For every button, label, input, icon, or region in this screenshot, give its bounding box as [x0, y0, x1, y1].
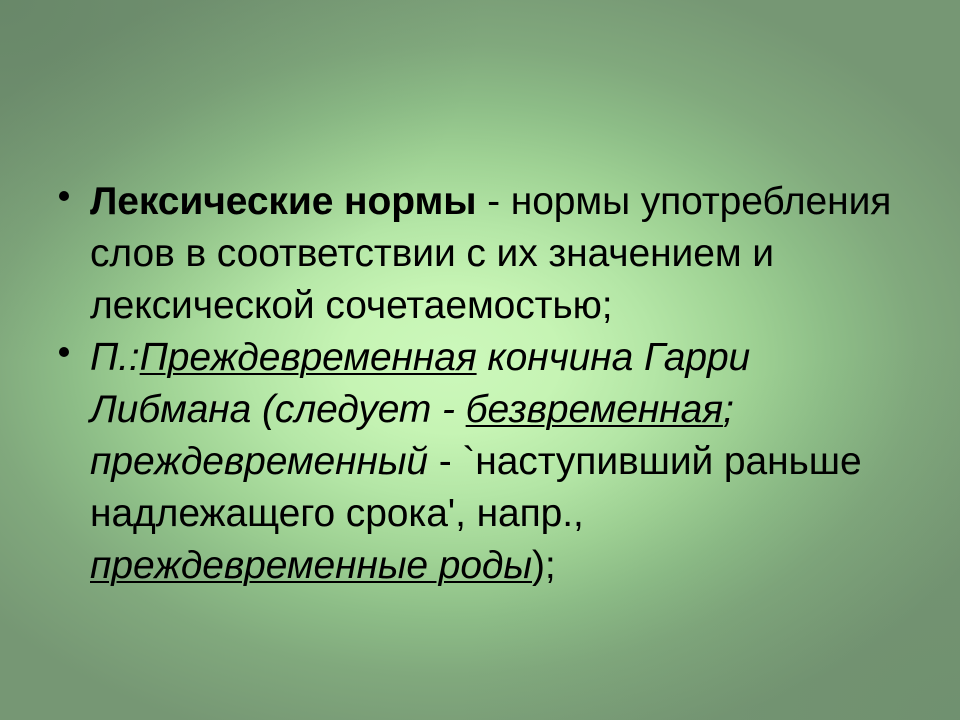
- underlined-term-prezhdevremennaya: Преждевременная: [140, 336, 477, 379]
- bullet-dot-icon: [59, 191, 69, 201]
- term-lexical-norms: Лексические нормы: [90, 180, 476, 223]
- list-item: П.:Преждевременная кончина Гарри Либмана…: [50, 332, 920, 592]
- underlined-term-bezvremennaya: безвременная: [466, 388, 723, 431]
- bullet-dot-icon: [59, 347, 69, 357]
- example-middle-2: ;: [723, 388, 734, 431]
- list-item: Лексические нормы - нормы употребления с…: [50, 176, 920, 332]
- example-suffix: );: [532, 544, 556, 587]
- slide-body-text: Лексические нормы - нормы употребления с…: [50, 176, 920, 592]
- slide-canvas: Лексические нормы - нормы употребления с…: [0, 0, 960, 720]
- italic-term-prezhdevremenny: преждевременный: [90, 440, 428, 483]
- example-prefix: П.:: [90, 336, 140, 379]
- underlined-term-prezhdevremennye-rody: преждевременные роды: [90, 544, 532, 587]
- bullet-text-example: П.:Преждевременная кончина Гарри Либмана…: [90, 332, 920, 592]
- bullet-text-lexical-norms: Лексические нормы - нормы употребления с…: [90, 176, 920, 332]
